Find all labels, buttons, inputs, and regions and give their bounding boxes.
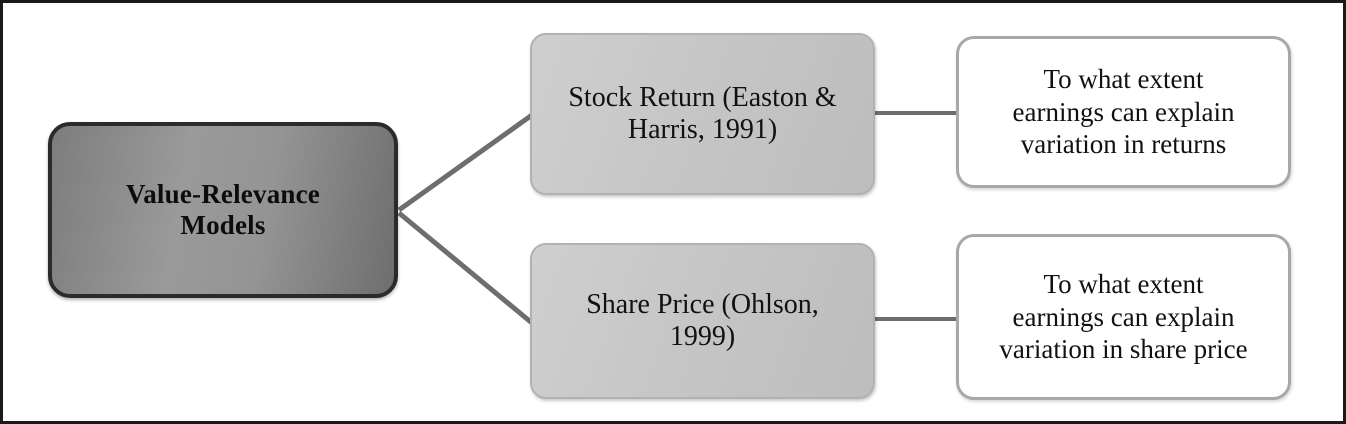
node-model-stock-return-line1: Stock Return (Easton & <box>568 82 836 113</box>
node-question-returns-line3: variation in returns <box>1021 129 1226 159</box>
connector-root-to-stock-return <box>399 115 532 210</box>
node-root-label-line2: Models <box>180 210 265 240</box>
node-model-stock-return-label: Stock Return (Easton & Harris, 1991) <box>532 82 873 147</box>
node-question-returns-line2: earnings can explain <box>1013 97 1235 127</box>
node-question-returns-label: To what extent earnings can explain vari… <box>959 63 1288 162</box>
diagram-frame: Value-Relevance Models Stock Return (Eas… <box>0 0 1346 424</box>
node-root-label: Value-Relevance Models <box>52 179 394 242</box>
node-root-value-relevance-models[interactable]: Value-Relevance Models <box>48 122 398 298</box>
node-question-share-price[interactable]: To what extent earnings can explain vari… <box>956 234 1291 400</box>
node-model-share-price-line1: Share Price (Ohlson, <box>586 289 819 320</box>
node-model-stock-return[interactable]: Stock Return (Easton & Harris, 1991) <box>530 33 875 195</box>
node-question-share-price-line2: earnings can explain <box>1013 302 1235 332</box>
node-model-share-price[interactable]: Share Price (Ohlson, 1999) <box>530 243 875 399</box>
node-model-stock-return-line2: Harris, 1991) <box>628 114 777 145</box>
node-question-share-price-label: To what extent earnings can explain vari… <box>959 268 1288 367</box>
node-model-share-price-line2: 1999) <box>670 321 735 352</box>
node-question-share-price-line1: To what extent <box>1043 269 1203 299</box>
node-question-share-price-line3: variation in share price <box>999 334 1247 364</box>
node-question-returns-line1: To what extent <box>1043 64 1203 94</box>
node-root-label-line1: Value-Relevance <box>126 179 320 209</box>
connector-root-to-share-price <box>399 213 532 323</box>
node-question-returns[interactable]: To what extent earnings can explain vari… <box>956 36 1291 188</box>
node-model-share-price-label: Share Price (Ohlson, 1999) <box>532 289 873 354</box>
